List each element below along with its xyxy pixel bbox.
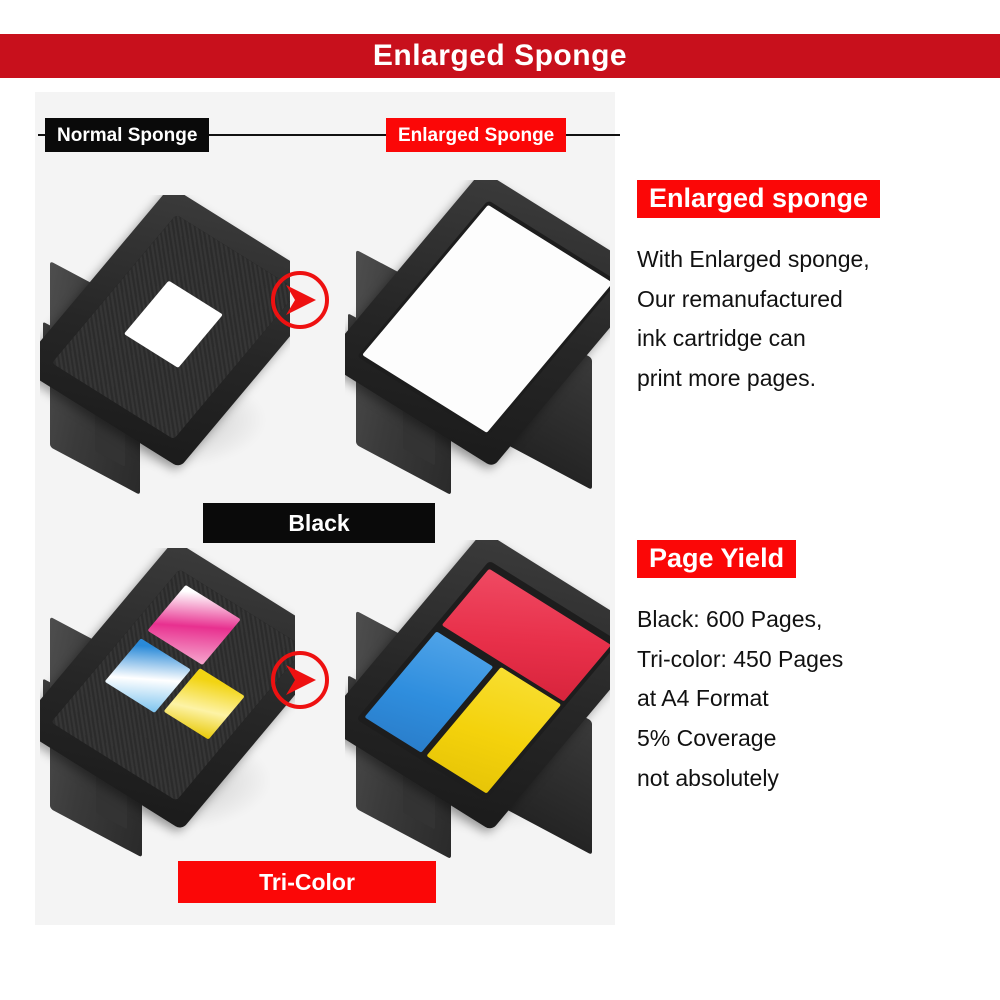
info-line: With Enlarged sponge, — [637, 240, 977, 280]
caption-black-text: Black — [288, 512, 349, 535]
info-line: ink cartridge can — [637, 319, 977, 359]
cartridge-tricolor-enlarged — [345, 540, 610, 860]
info-line: print more pages. — [637, 359, 977, 399]
label-normal-sponge-text: Normal Sponge — [57, 126, 197, 145]
yield-line: 5% Coverage — [637, 719, 977, 759]
page-yield-heading: Page Yield — [637, 540, 796, 578]
enlarged-sponge-body: With Enlarged sponge, Our remanufactured… — [637, 240, 977, 398]
page-yield-body: Black: 600 Pages, Tri-color: 450 Pages a… — [637, 600, 977, 798]
arrow-right-circle-icon — [268, 648, 332, 712]
cartridge-tricolor-normal — [40, 548, 295, 858]
header-banner: Enlarged Sponge — [0, 34, 1000, 78]
caption-black: Black — [203, 503, 435, 543]
cartridge-black-normal — [40, 195, 290, 495]
yield-line: Black: 600 Pages, — [637, 600, 977, 640]
yield-line: not absolutely — [637, 759, 977, 799]
label-normal-sponge: Normal Sponge — [45, 118, 209, 152]
info-line: Our remanufactured — [637, 280, 977, 320]
page-yield-section: Page Yield Black: 600 Pages, Tri-color: … — [637, 540, 977, 798]
page-title: Enlarged Sponge — [373, 41, 627, 71]
enlarged-sponge-heading: Enlarged sponge — [637, 180, 880, 218]
comparison-header: Normal Sponge Enlarged Sponge — [38, 118, 620, 152]
yield-line: Tri-color: 450 Pages — [637, 640, 977, 680]
caption-tricolor-text: Tri-Color — [259, 871, 355, 894]
yield-line: at A4 Format — [637, 679, 977, 719]
cartridge-black-enlarged — [345, 180, 610, 495]
label-enlarged-sponge: Enlarged Sponge — [386, 118, 566, 152]
enlarged-sponge-info-section: Enlarged sponge With Enlarged sponge, Ou… — [637, 180, 977, 399]
caption-tricolor: Tri-Color — [178, 861, 436, 903]
label-enlarged-sponge-text: Enlarged Sponge — [398, 126, 554, 145]
arrow-right-circle-icon — [268, 268, 332, 332]
